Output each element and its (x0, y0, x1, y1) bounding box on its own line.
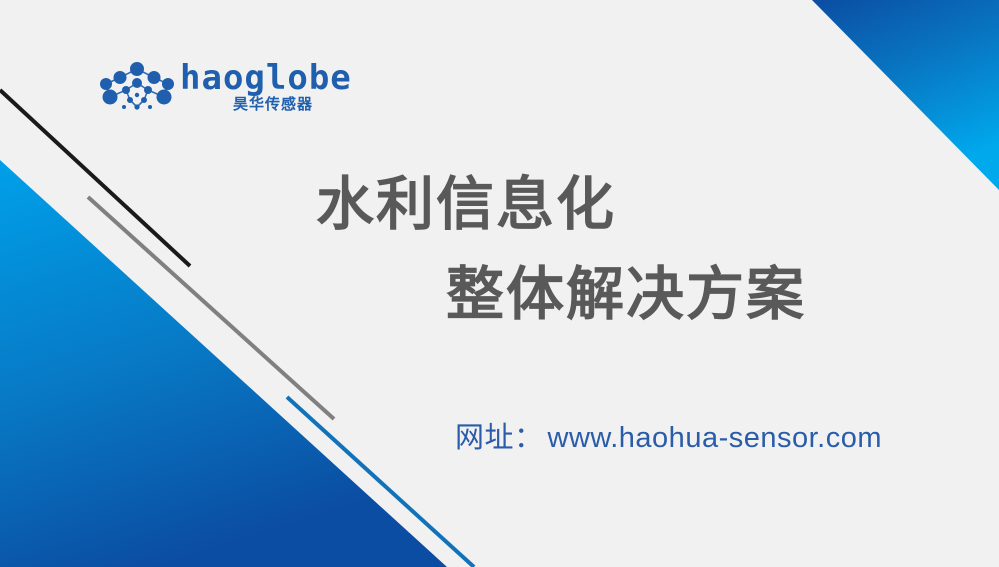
slide-title-line-2: 整体解决方案 (446, 266, 806, 324)
website-label: 网址： (455, 422, 544, 454)
website-line: 网址：www.haohua-sensor.com (455, 421, 882, 456)
molecule-network-logo-icon (98, 62, 176, 114)
website-url[interactable]: www.haohua-sensor.com (548, 422, 883, 454)
logo-subtext: 昊华传感器 (196, 97, 313, 112)
logo-wordmark: haoglobe (180, 61, 352, 95)
slide-title-line-1: 水利信息化 (316, 176, 616, 234)
company-logo: haoglobe 昊华传感器 (98, 58, 313, 124)
presentation-slide: haoglobe 昊华传感器 水利信息化 整体解决方案 网址：www.haohu… (0, 0, 999, 567)
